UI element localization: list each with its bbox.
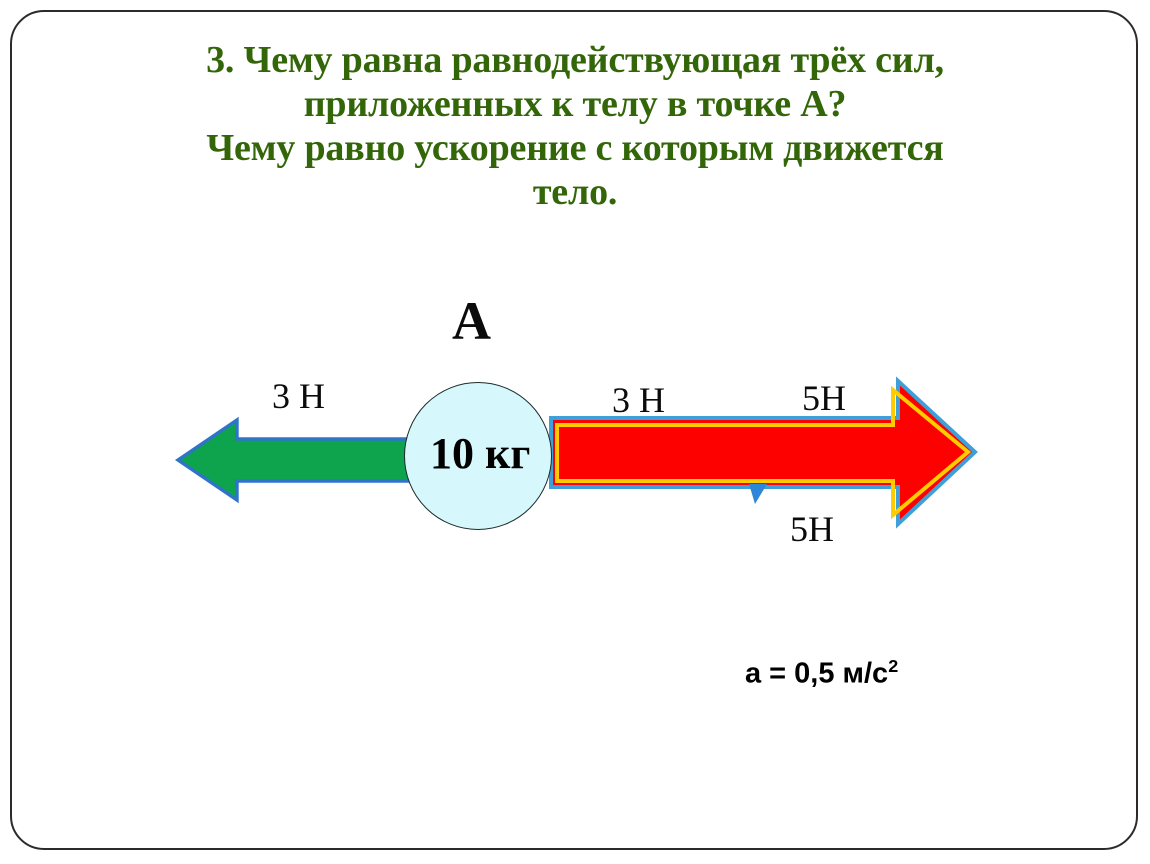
- left-force-label: 3 Н: [272, 378, 325, 414]
- slide: 3. Чему равна равнодействующая трёх сил,…: [0, 0, 1150, 864]
- answer-prefix: a = 0,5 м/с: [745, 658, 888, 690]
- right-inner-force-label: 3 Н: [612, 382, 665, 418]
- answer-exponent: 2: [888, 656, 898, 676]
- resultant-force-label-bottom: 5Н: [790, 511, 834, 547]
- resultant-force-label-top: 5Н: [802, 380, 846, 416]
- force-diagram: 10 кг А 3 Н 3 Н 5Н 5Н: [0, 0, 1150, 864]
- point-a-label: А: [452, 294, 491, 348]
- small-blue-arrowhead-icon: [749, 484, 767, 504]
- body-mass-label: 10 кг: [430, 432, 580, 476]
- answer-text: a = 0,5 м/с2: [745, 656, 898, 691]
